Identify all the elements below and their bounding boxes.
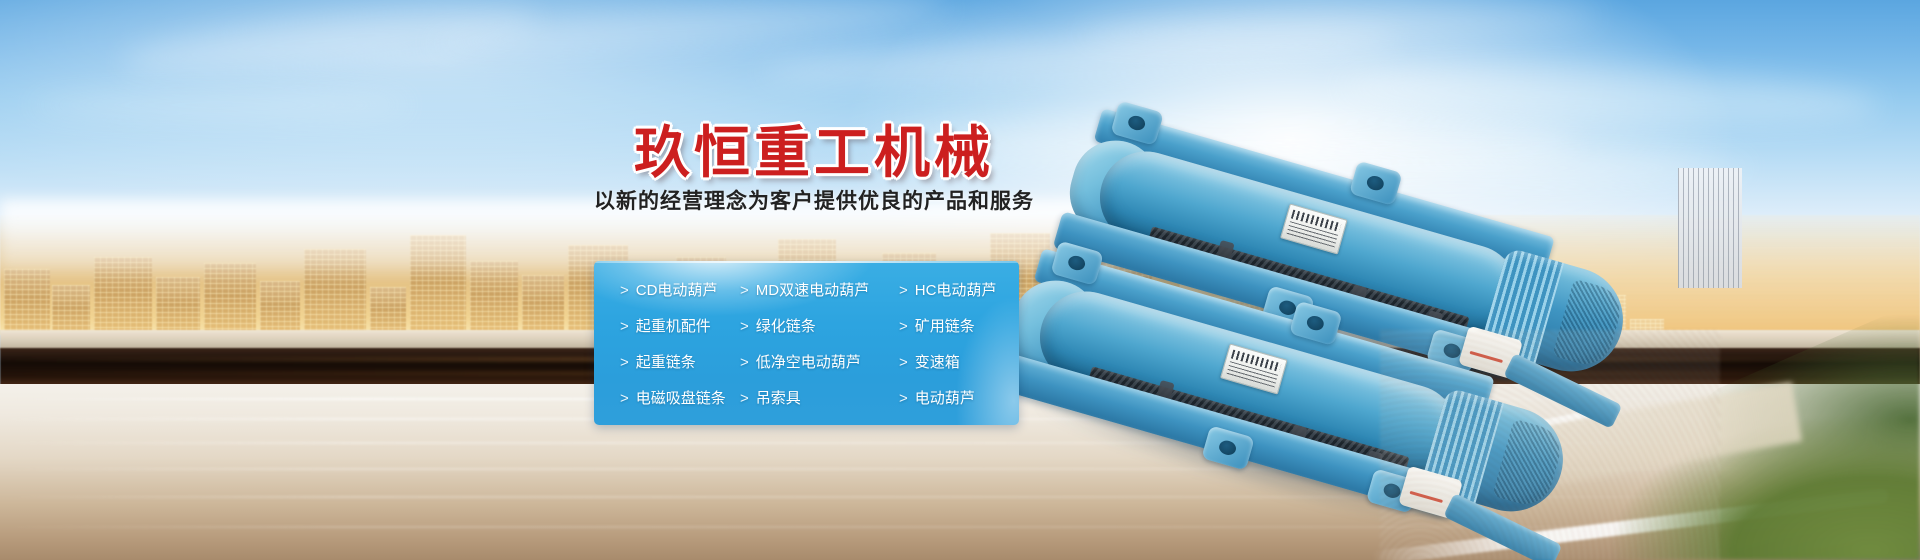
chevron-right-icon: > xyxy=(740,390,749,407)
product-link[interactable]: >变速箱 xyxy=(899,353,960,373)
banner-subheadline: 以新的经营理念为客户提供优良的产品和服务 xyxy=(594,185,1034,215)
product-link[interactable]: >起重机配件 xyxy=(620,317,711,337)
product-link-label: 起重机配件 xyxy=(636,318,711,335)
product-link[interactable]: >绿化链条 xyxy=(740,317,816,337)
product-links-row: >起重机配件>绿化链条>矿用链条 xyxy=(594,317,1019,353)
product-link[interactable]: >MD双速电动葫芦 xyxy=(740,281,869,301)
product-link-label: 起重链条 xyxy=(636,354,696,371)
product-link-label: 吊索具 xyxy=(756,390,801,407)
product-link-label: 电动葫芦 xyxy=(915,390,975,407)
product-link[interactable]: >低净空电动葫芦 xyxy=(740,353,861,373)
chevron-right-icon: > xyxy=(620,354,629,371)
banner-headline: 玖恒重工机械 xyxy=(594,108,1034,189)
chevron-right-icon: > xyxy=(899,354,908,371)
chevron-right-icon: > xyxy=(620,282,629,299)
chevron-right-icon: > xyxy=(740,354,749,371)
product-link-label: CD电动葫芦 xyxy=(636,282,718,299)
chevron-right-icon: > xyxy=(899,390,908,407)
product-link[interactable]: >电磁吸盘链条 xyxy=(620,389,726,409)
product-link-label: 电磁吸盘链条 xyxy=(636,390,726,407)
product-links-row: >起重链条>低净空电动葫芦>变速箱 xyxy=(594,353,1019,389)
product-link[interactable]: >CD电动葫芦 xyxy=(620,281,717,301)
product-link-label: MD双速电动葫芦 xyxy=(756,282,869,299)
cloud-wisp xyxy=(1339,61,1880,132)
product-link[interactable]: >电动葫芦 xyxy=(899,389,975,409)
product-link[interactable]: >矿用链条 xyxy=(899,317,975,337)
chevron-right-icon: > xyxy=(899,318,908,335)
chevron-right-icon: > xyxy=(620,390,629,407)
product-links-panel: >CD电动葫芦>MD双速电动葫芦>HC电动葫芦>起重机配件>绿化链条>矿用链条>… xyxy=(594,261,1019,425)
product-link-label: 矿用链条 xyxy=(915,318,975,335)
chevron-right-icon: > xyxy=(740,282,749,299)
product-links-row: >电磁吸盘链条>吊索具>电动葫芦 xyxy=(594,389,1019,425)
product-link-label: 低净空电动葫芦 xyxy=(756,354,861,371)
product-link-label: 变速箱 xyxy=(915,354,960,371)
chevron-right-icon: > xyxy=(620,318,629,335)
promo-banner: 玖恒重工机械 以新的经营理念为客户提供优良的产品和服务 >CD电动葫芦>MD双速… xyxy=(0,0,1920,560)
chevron-right-icon: > xyxy=(899,282,908,299)
product-link[interactable]: >吊索具 xyxy=(740,389,801,409)
banner-headline-text: 玖恒重工机械 xyxy=(634,121,994,184)
product-link[interactable]: >起重链条 xyxy=(620,353,696,373)
glass-tower-building xyxy=(1678,168,1742,288)
product-link[interactable]: >HC电动葫芦 xyxy=(899,281,996,301)
product-link-label: 绿化链条 xyxy=(756,318,816,335)
product-link-label: HC电动葫芦 xyxy=(915,282,997,299)
product-links-grid: >CD电动葫芦>MD双速电动葫芦>HC电动葫芦>起重机配件>绿化链条>矿用链条>… xyxy=(594,261,1019,425)
chevron-right-icon: > xyxy=(740,318,749,335)
product-links-row: >CD电动葫芦>MD双速电动葫芦>HC电动葫芦 xyxy=(594,281,1019,317)
cloud-wisp xyxy=(30,92,410,118)
